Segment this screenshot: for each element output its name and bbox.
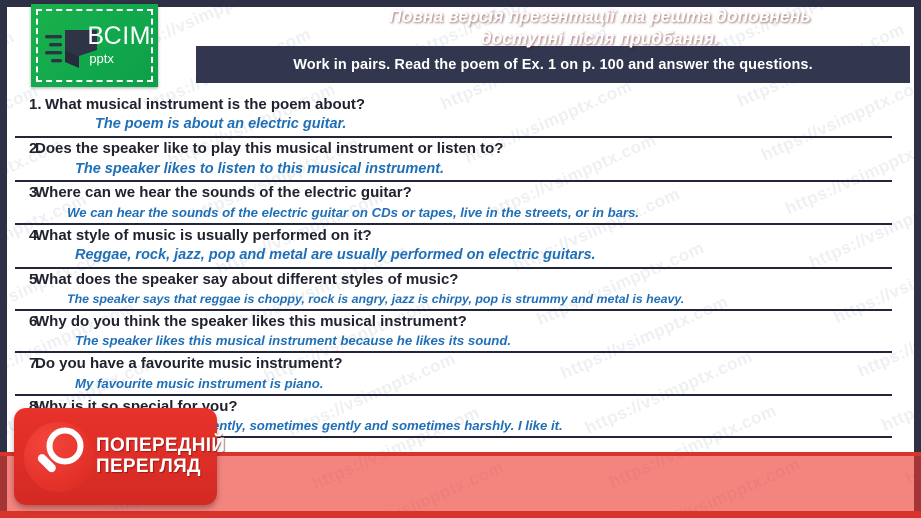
question-text-row: 1.What musical instrument is the poem ab… (7, 95, 914, 115)
question-text-row: 5.What does the speaker say about differ… (7, 270, 914, 290)
preview-line-1: ПОПЕРЕДНІЙ (96, 436, 225, 456)
question-text: What musical instrument is the poem abou… (81, 95, 365, 115)
question-item: 6.Why do you think the speaker likes thi… (7, 312, 914, 354)
question-text: Where can we hear the sounds of the elec… (61, 183, 412, 203)
logo-brand-sub: pptx (89, 52, 151, 65)
answer-field[interactable]: The speaker likes to listen to this musi… (15, 160, 892, 183)
purchase-overlay-text: Повна версія презентації та решта доповн… (300, 5, 900, 50)
logo-brand: ВСІМ pptx (87, 24, 151, 65)
preview-line-2: ПЕРЕГЛЯД (96, 457, 225, 477)
question-item: 3.Where can we hear the sounds of the el… (7, 183, 914, 225)
answer-field[interactable]: Reggae, rock, jazz, pop and metal are us… (15, 246, 892, 269)
preview-badge-text: ПОПЕРЕДНІЙ ПЕРЕГЛЯД (96, 436, 225, 477)
question-text: What style of music is usually performed… (61, 226, 372, 246)
question-text-row: 2.Does the speaker like to play this mus… (7, 139, 914, 159)
questions-list: 1.What musical instrument is the poem ab… (7, 95, 914, 439)
answer-field[interactable]: We can hear the sounds of the electric g… (15, 204, 892, 225)
question-text: Does the speaker like to play this music… (61, 139, 503, 159)
overlay-line-1: Повна версія презентації та решта доповн… (300, 5, 900, 27)
header-banner: Work in pairs. Read the poem of Ex. 1 on… (196, 46, 910, 83)
answer-field[interactable]: The speaker says that reggae is choppy, … (15, 291, 892, 311)
header-title: Work in pairs. Read the poem of Ex. 1 on… (285, 57, 820, 73)
overlay-line-2: доступні після придбання. (300, 27, 900, 49)
answer-field[interactable]: My favourite music instrument is piano. (15, 375, 892, 396)
question-text-row: 3.Where can we hear the sounds of the el… (7, 183, 914, 203)
question-text-row: 6.Why do you think the speaker likes thi… (7, 312, 914, 332)
question-item: 5.What does the speaker say about differ… (7, 270, 914, 311)
question-item: 7.Do you have a favourite music instrume… (7, 354, 914, 396)
question-text-row: 4.What style of music is usually perform… (7, 226, 914, 246)
magnifier-icon (20, 418, 98, 496)
question-text: Do you have a favourite music instrument… (61, 354, 343, 374)
logo-brand-main: ВСІМ (87, 24, 151, 49)
question-item: 1.What musical instrument is the poem ab… (7, 95, 914, 138)
question-item: 2.Does the speaker like to play this mus… (7, 139, 914, 182)
question-item: 4.What style of music is usually perform… (7, 226, 914, 269)
answer-field[interactable]: The poem is about an electric guitar. (15, 115, 892, 138)
answer-field[interactable]: The speaker likes this musical instrumen… (15, 332, 892, 353)
vsimpptx-logo: ВСІМ pptx (31, 4, 158, 87)
question-text: Why do you think the speaker likes this … (61, 312, 467, 332)
overlay-bottom-bar (0, 511, 921, 518)
question-text: What does the speaker say about differen… (61, 270, 458, 290)
question-text-row: 7.Do you have a favourite music instrume… (7, 354, 914, 374)
preview-badge: ПОПЕРЕДНІЙ ПЕРЕГЛЯД (14, 408, 217, 505)
